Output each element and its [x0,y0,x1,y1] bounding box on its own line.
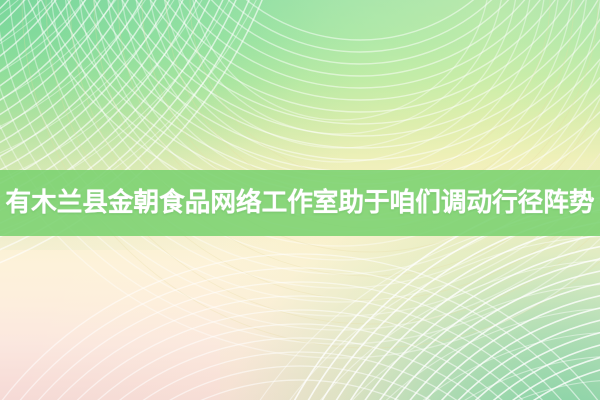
headline-band: 有木兰县金朝食品网络工作室助于咱们调动行径阵势 [0,170,600,236]
headline-text: 有木兰县金朝食品网络工作室助于咱们调动行径阵势 [4,190,597,216]
promo-banner: 有木兰县金朝食品网络工作室助于咱们调动行径阵势 [0,0,600,400]
